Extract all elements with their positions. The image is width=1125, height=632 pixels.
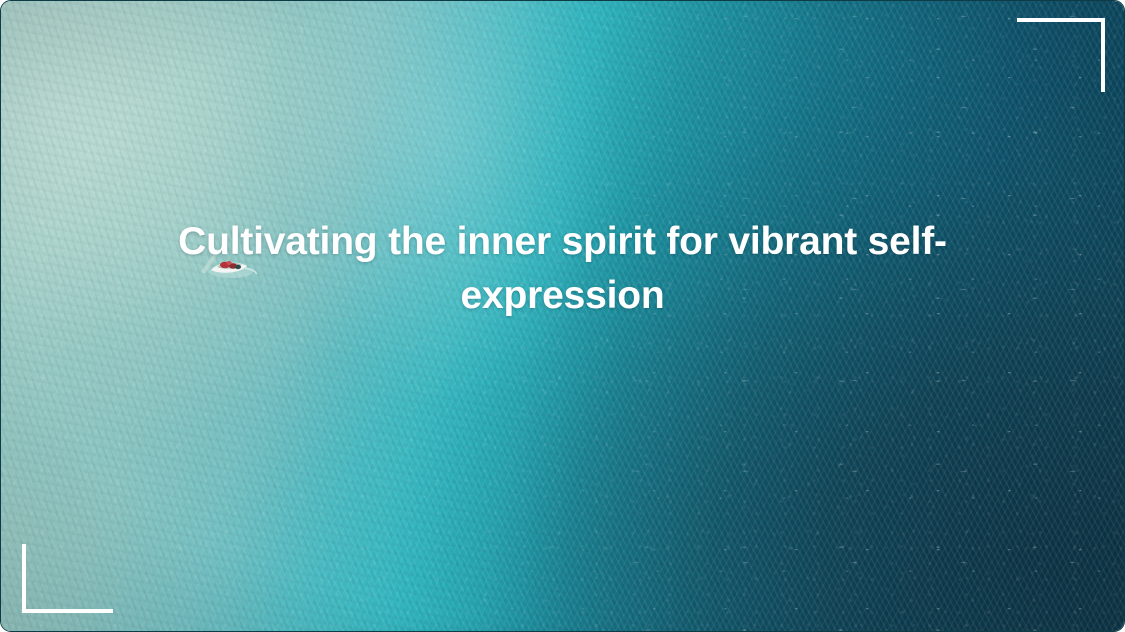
- bracket-vertical-line: [22, 544, 26, 613]
- presentation-slide: Cultivating the inner spirit for vibrant…: [0, 0, 1125, 632]
- bottom-left-corner-bracket: [22, 544, 113, 613]
- bracket-horizontal-line: [1017, 18, 1105, 22]
- top-right-corner-bracket: [1017, 18, 1105, 92]
- bracket-horizontal-line: [22, 609, 113, 613]
- title-container: Cultivating the inner spirit for vibrant…: [1, 215, 1124, 323]
- slide-title: Cultivating the inner spirit for vibrant…: [105, 215, 1021, 323]
- bracket-vertical-line: [1101, 18, 1105, 92]
